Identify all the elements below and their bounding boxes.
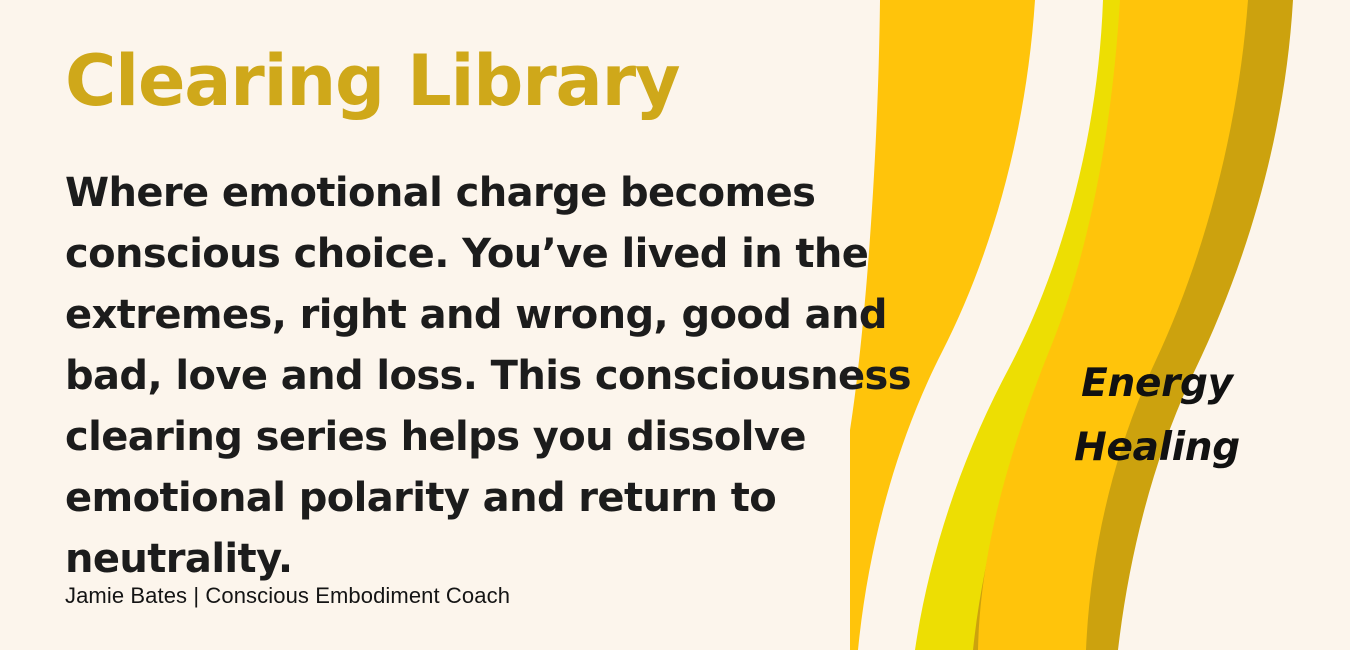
wave-ribbon-orange-lower: [978, 0, 1248, 650]
content-column: Clearing Library Where emotional charge …: [65, 0, 995, 650]
clearing-library-card: Clearing Library Where emotional charge …: [0, 0, 1350, 650]
wave-ribbon-olive: [973, 0, 1293, 650]
body-description: Where emotional charge becomes conscious…: [65, 163, 990, 590]
byline: Jamie Bates | Conscious Embodiment Coach: [65, 583, 510, 609]
page-title: Clearing Library: [65, 46, 679, 116]
category-label: Energy Healing: [1042, 352, 1272, 480]
